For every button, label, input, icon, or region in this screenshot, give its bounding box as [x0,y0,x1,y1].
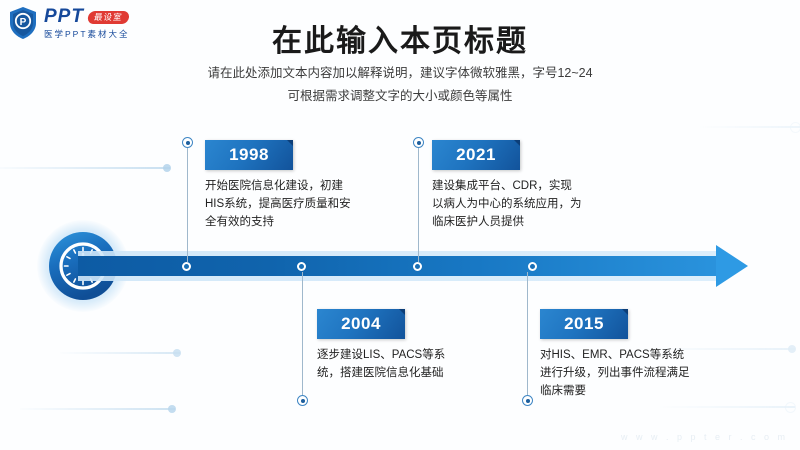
timeline-node[interactable] [528,262,537,271]
connector-line-2021 [418,143,419,262]
year-label: 2015 [564,314,604,334]
timeline-event-1998[interactable]: 1998 开始医院信息化建设，初建HIS系统，提高医疗质量和安全有效的支持 [205,140,365,231]
timeline-node[interactable] [182,262,191,271]
event-description: 建设集成平台、CDR，实现以病人为中心的系统应用，为临床医护人员提供 [432,178,582,231]
timeline-node[interactable] [297,262,306,271]
timeline-bar [78,251,768,281]
connector-tip-2021 [413,137,424,148]
year-label: 2004 [341,314,381,334]
event-description: 开始医院信息化建设，初建HIS系统，提高医疗质量和安全有效的支持 [205,178,355,231]
connector-line-1998 [187,143,188,262]
page-title: 在此输入本页标题 [0,16,800,60]
subtitle-line-1: 请在此处添加文本内容加以解释说明，建议字体微软雅黑，字号12~24 [0,62,800,85]
connector-tip-2004 [297,395,308,406]
year-badge-2004: 2004 [317,309,405,339]
decor-arrow-bottom-left [20,408,175,410]
connector-tip-1998 [182,137,193,148]
decor-arrow-right-lower [660,406,795,408]
year-badge-2015: 2015 [540,309,628,339]
event-description: 逐步建设LIS、PACS等系统，搭建医院信息化基础 [317,347,467,383]
arrow-right-icon [716,245,748,287]
slide-canvas: P PPT 最设室 医学PPT素材大全 在此输入本页标题 请在此处添加文本内容加… [0,0,800,450]
decor-arrow-right-far [700,126,800,128]
decor-arrow-mid-left [60,352,180,354]
year-label: 1998 [229,145,269,165]
connector-line-2015 [527,272,528,400]
timeline-node[interactable] [413,262,422,271]
timeline-event-2004[interactable]: 2004 逐步建设LIS、PACS等系统，搭建医院信息化基础 [317,309,477,383]
connector-line-2004 [302,272,303,400]
site-watermark: w w w . p p t e r . c o m [621,432,788,442]
event-description: 对HIS、EMR、PACS等系统进行升级，列出事件流程满足临床需要 [540,347,690,400]
subtitle-line-2: 可根据需求调整文字的大小或颜色等属性 [0,85,800,108]
year-label: 2021 [456,145,496,165]
connector-tip-2015 [522,395,533,406]
decor-arrow-top-left [0,167,170,169]
timeline-event-2015[interactable]: 2015 对HIS、EMR、PACS等系统进行升级，列出事件流程满足临床需要 [540,309,700,400]
timeline-bar-fill [78,256,720,276]
year-badge-2021: 2021 [432,140,520,170]
timeline-event-2021[interactable]: 2021 建设集成平台、CDR，实现以病人为中心的系统应用，为临床医护人员提供 [432,140,592,231]
year-badge-1998: 1998 [205,140,293,170]
page-subtitle: 请在此处添加文本内容加以解释说明，建议字体微软雅黑，字号12~24 可根据需求调… [0,62,800,108]
